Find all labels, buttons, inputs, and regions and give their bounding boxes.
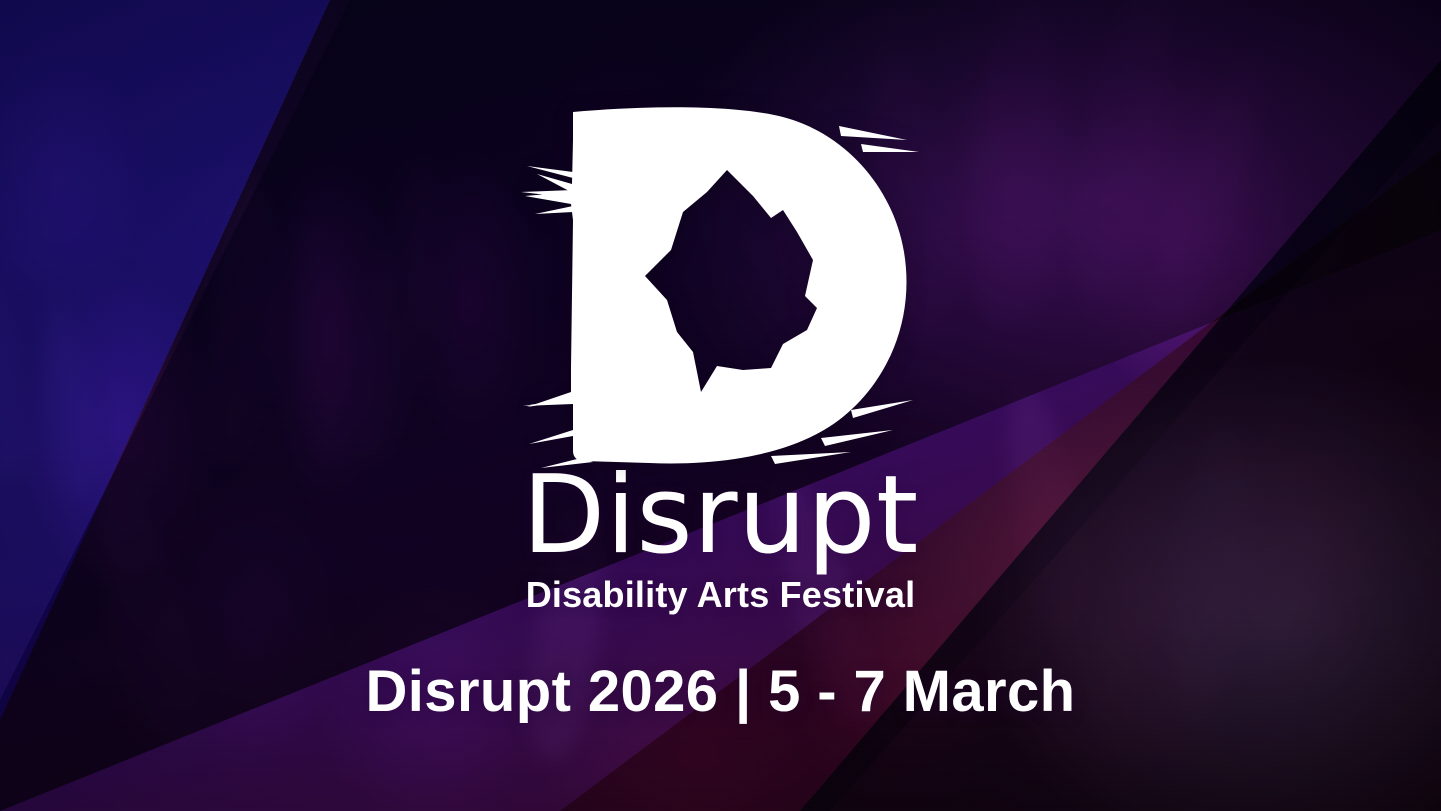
disrupt-festival-banner: Disrupt Disability Arts Festival Disrupt… [0, 0, 1441, 811]
crowd-hands-streaks [0, 0, 1441, 811]
